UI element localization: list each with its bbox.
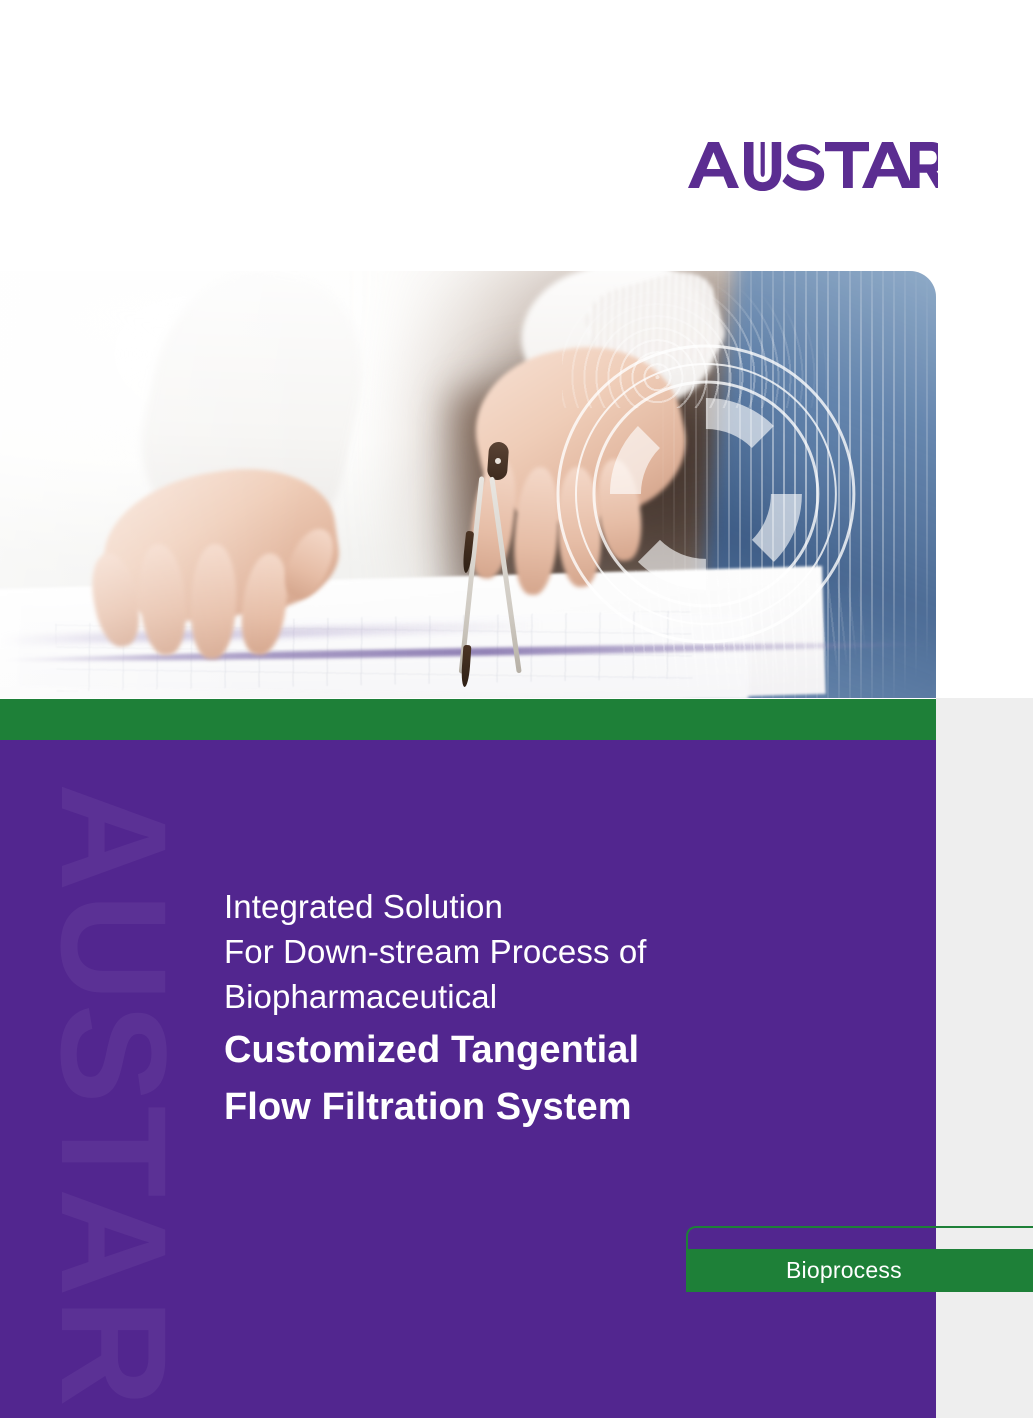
badge-fill-bar: Bioprocess xyxy=(686,1249,1033,1292)
green-divider-band xyxy=(0,699,936,740)
right-margin-strip xyxy=(936,698,1033,1418)
austar-watermark: AUSTAR xyxy=(39,783,189,1418)
title-line-5: Flow Filtration System xyxy=(224,1082,824,1133)
austar-logo xyxy=(686,138,938,194)
title-line-3: Biopharmaceutical xyxy=(224,974,824,1019)
title-line-2: For Down-stream Process of xyxy=(224,929,824,974)
ripple-pattern-bottom xyxy=(618,570,880,698)
bioprocess-badge: Bioprocess xyxy=(686,1226,1033,1302)
title-line-4: Customized Tangential xyxy=(224,1025,824,1076)
compass-leg-left xyxy=(459,477,485,675)
compass-leg-right xyxy=(489,477,522,674)
badge-label: Bioprocess xyxy=(786,1257,902,1284)
compass-hinge xyxy=(486,441,509,480)
photo-drafting-compass xyxy=(412,442,580,690)
compass-tip-lower xyxy=(461,645,472,687)
page-header xyxy=(0,0,1033,268)
brochure-cover-page: AUSTAR Integrated Solution For Down-stre… xyxy=(0,0,1033,1418)
cover-title-block: Integrated Solution For Down-stream Proc… xyxy=(224,884,824,1133)
title-line-1: Integrated Solution xyxy=(224,884,824,929)
hero-photo-composite xyxy=(0,271,936,698)
hero-image xyxy=(0,271,936,698)
